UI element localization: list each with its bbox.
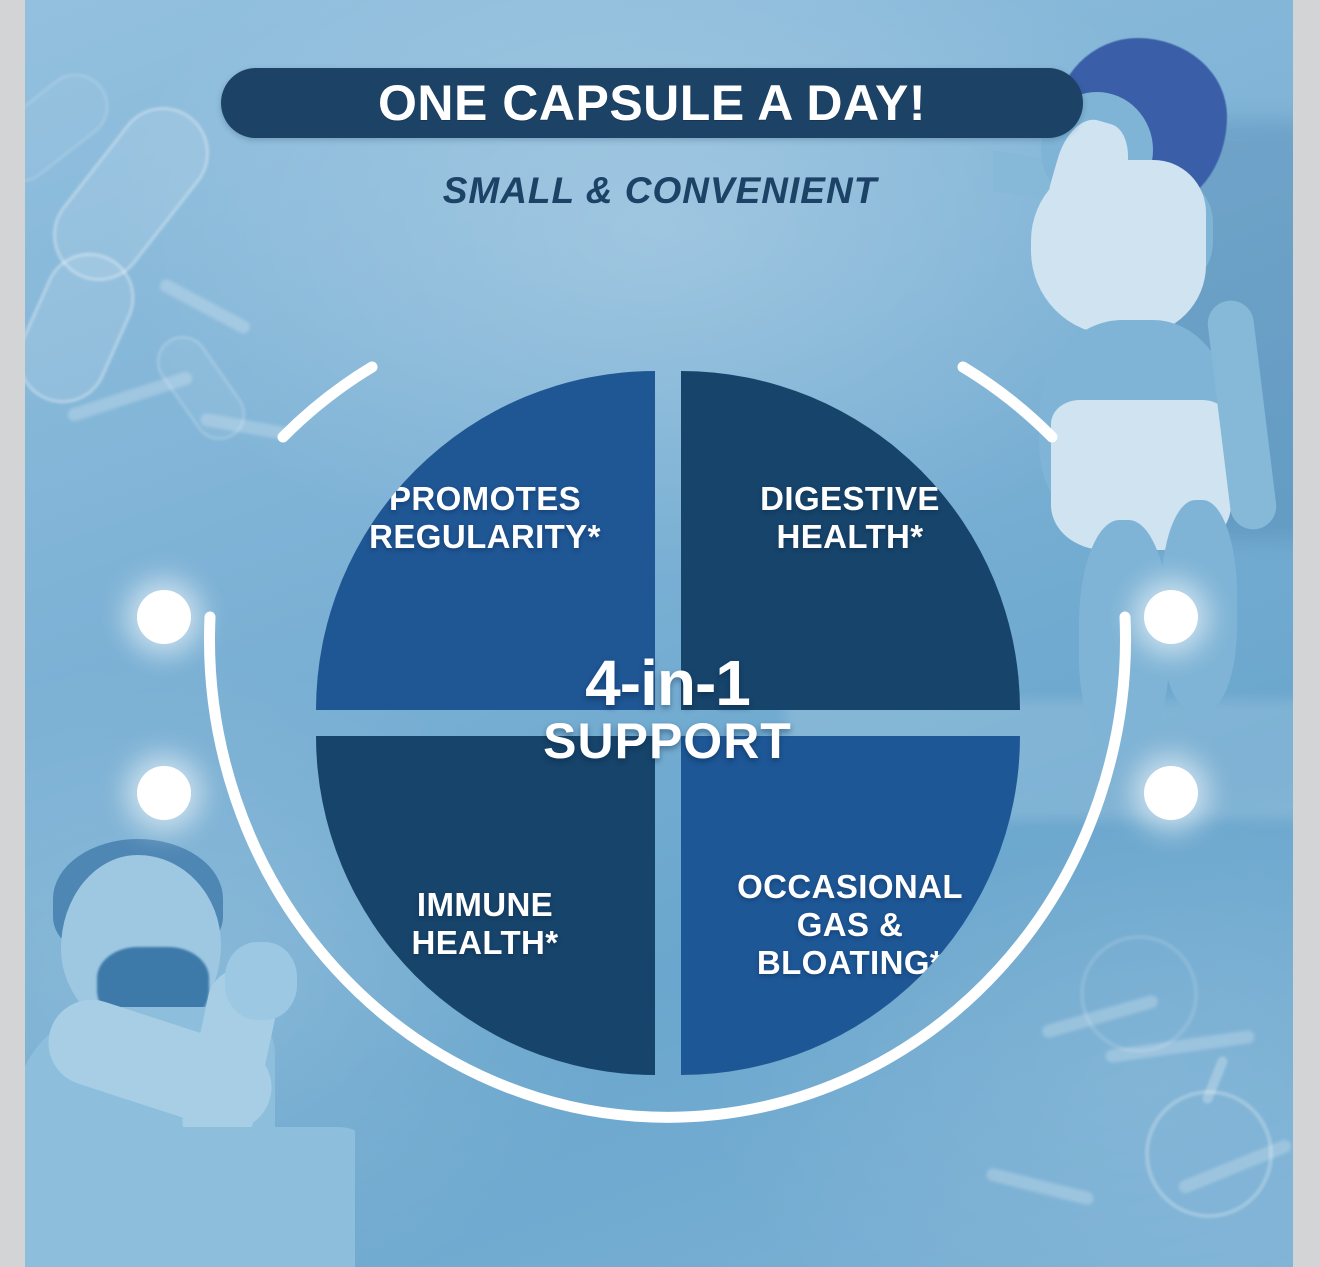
quadrant-occasional-gas-bloating[interactable]: OCCASIONAL GAS & BLOATING*	[681, 736, 1020, 1075]
four-in-one-support-wheel: PROMOTES REGULARITY* DIGESTIVE HEALTH* I…	[140, 215, 1195, 1230]
quadrant-immune-health[interactable]: IMMUNE HEALTH*	[316, 736, 655, 1075]
page-border-right	[1293, 0, 1320, 1267]
quadrant-digestive-health[interactable]: DIGESTIVE HEALTH*	[681, 371, 1020, 710]
quadrant-label-digestive-health: DIGESTIVE HEALTH*	[742, 480, 958, 557]
quadrant-label-promotes-regularity: PROMOTES REGULARITY*	[351, 480, 619, 557]
banner-label: ONE CAPSULE A DAY!	[378, 74, 926, 132]
infographic-root: ONE CAPSULE A DAY! SMALL & CONVENIENT PR…	[0, 0, 1320, 1267]
quadrant-promotes-regularity[interactable]: PROMOTES REGULARITY*	[316, 371, 655, 710]
one-capsule-a-day-banner: ONE CAPSULE A DAY!	[221, 68, 1083, 138]
occasional-gas-bloating-marker-dot[interactable]	[1144, 766, 1198, 820]
quadrant-label-immune-health: IMMUNE HEALTH*	[393, 886, 576, 963]
quadrant-disc: PROMOTES REGULARITY* DIGESTIVE HEALTH* I…	[316, 371, 1020, 1075]
subtitle-small-and-convenient: SMALL & CONVENIENT	[0, 170, 1320, 212]
quadrant-label-occasional-gas-bloating: OCCASIONAL GAS & BLOATING*	[719, 868, 981, 983]
digestive-health-marker-dot[interactable]	[1144, 590, 1198, 644]
immune-health-marker-dot[interactable]	[137, 766, 191, 820]
page-border-left	[0, 0, 25, 1267]
promotes-regularity-marker-dot[interactable]	[137, 590, 191, 644]
